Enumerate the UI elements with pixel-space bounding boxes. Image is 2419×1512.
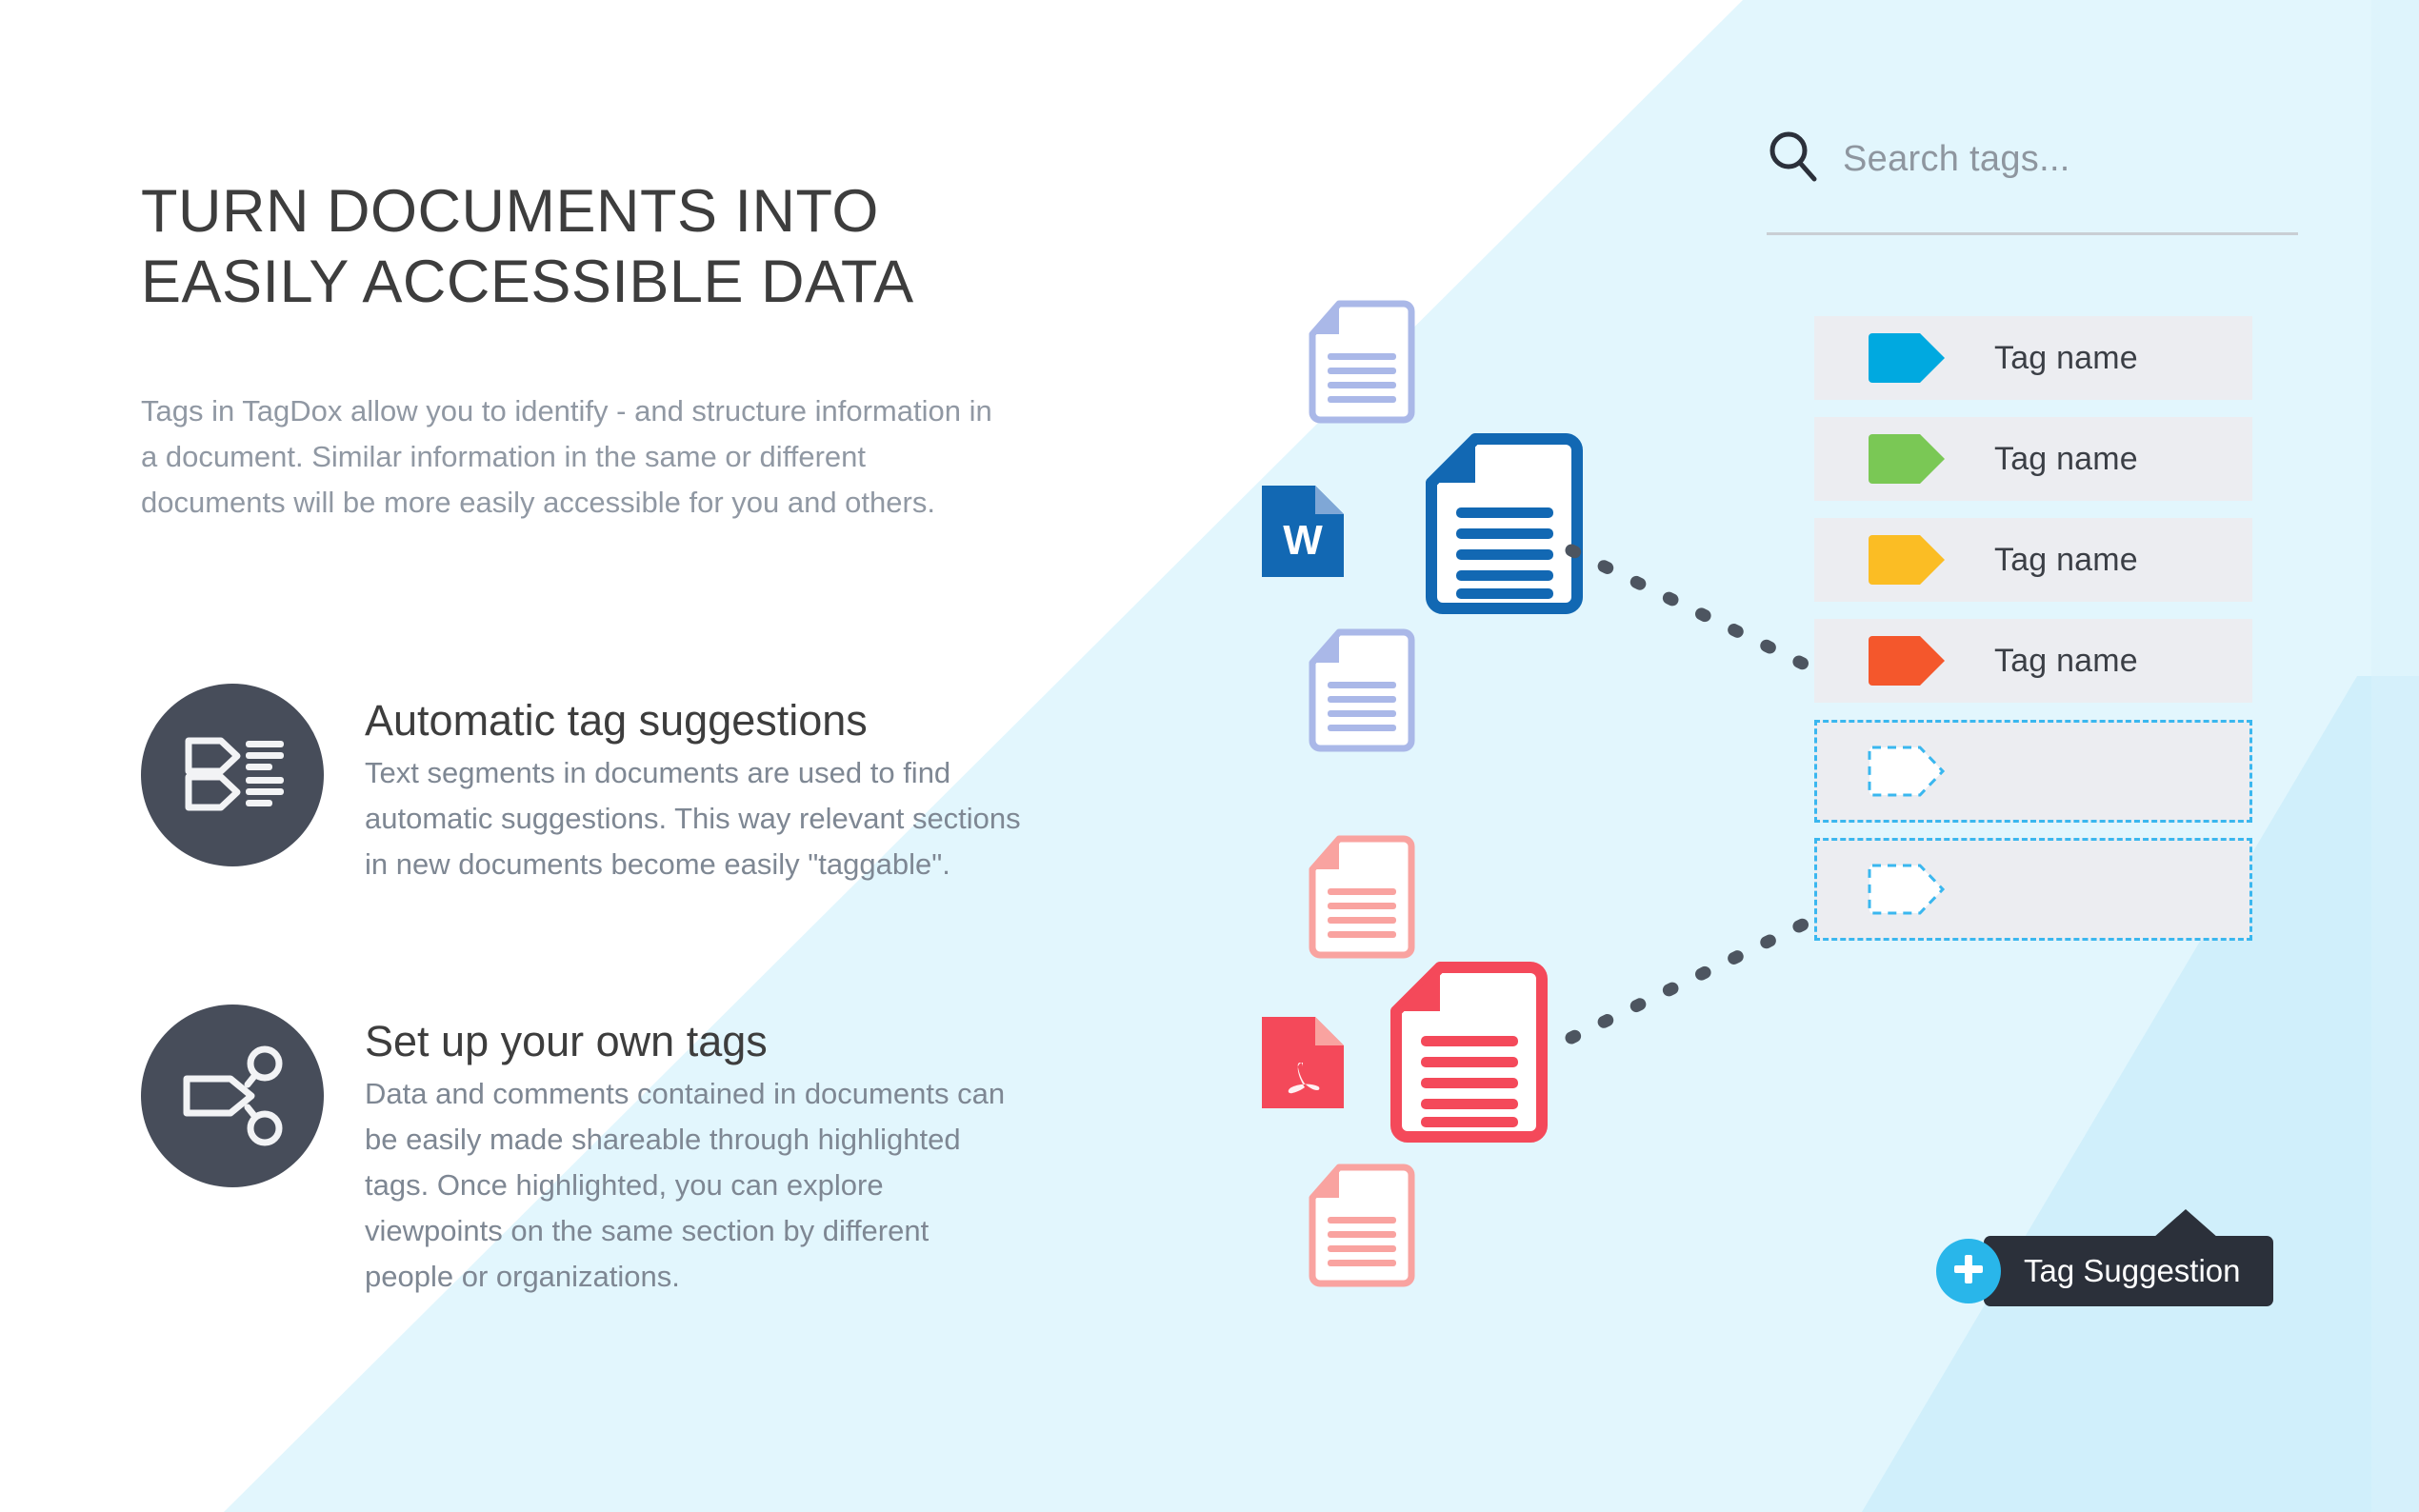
tag-placeholder-icon — [1867, 745, 1947, 798]
intro-paragraph: Tags in TagDox allow you to identify - a… — [141, 388, 1179, 526]
search-input[interactable]: Search tags... — [1843, 139, 2070, 180]
feature-description: Data and comments contained in documents… — [365, 1071, 1005, 1300]
svg-text:W: W — [1283, 517, 1323, 564]
headline-line-2: EASILY ACCESSIBLE DATA — [141, 247, 1189, 317]
document-icon-red-large — [1390, 962, 1548, 1143]
tag-suggestion-placeholder[interactable] — [1814, 720, 2252, 823]
tooltip-arrow-icon — [2153, 1209, 2218, 1238]
feature-text-line-3: tags. Once highlighted, you can explore — [365, 1163, 1005, 1208]
tooltip-label: Tag Suggestion — [2024, 1253, 2241, 1288]
feature-title: Automatic tag suggestions — [365, 697, 1021, 745]
document-icon-red-small-1 — [1305, 835, 1419, 959]
plus-icon — [1949, 1250, 1988, 1293]
tag-row[interactable]: Tag name — [1814, 316, 2252, 400]
tag-label: Tag name — [1994, 340, 2138, 377]
feature-body: Automatic tag suggestions Text segments … — [365, 684, 1021, 887]
document-icon-blue-small-2 — [1305, 628, 1419, 752]
tag-row[interactable]: Tag name — [1814, 417, 2252, 501]
tag-placeholder-icon — [1867, 863, 1947, 916]
tag-row[interactable]: Tag name — [1814, 518, 2252, 602]
tag-suggestion-tooltip[interactable]: Tag Suggestion — [1936, 1236, 2273, 1306]
tag-list-icon — [141, 684, 324, 866]
feature-text-line-1: Data and comments contained in documents… — [365, 1071, 1005, 1117]
tag-swatch-icon — [1867, 432, 1947, 486]
feature-body: Set up your own tags Data and comments c… — [365, 1005, 1005, 1300]
feature-automatic-tag-suggestions: Automatic tag suggestions Text segments … — [141, 684, 1021, 887]
search-icon — [1765, 129, 1822, 190]
document-icon-blue-small-1 — [1305, 300, 1419, 424]
search-underline — [1767, 232, 2298, 235]
page-title: TURN DOCUMENTS INTO EASILY ACCESSIBLE DA… — [141, 176, 1189, 318]
tag-label: Tag name — [1994, 542, 2138, 579]
feature-text-line-3: in new documents become easily "taggable… — [365, 842, 1021, 887]
feature-text-line-2: automatic suggestions. This way relevant… — [365, 796, 1021, 842]
tag-label: Tag name — [1994, 441, 2138, 478]
tag-label: Tag name — [1994, 643, 2138, 680]
document-icon-blue-large — [1426, 433, 1583, 614]
feature-set-up-your-own-tags: Set up your own tags Data and comments c… — [141, 1005, 1005, 1300]
tag-swatch-icon — [1867, 331, 1947, 385]
feature-text-line-1: Text segments in documents are used to f… — [365, 750, 1021, 796]
feature-text-line-4: viewpoints on the same section by differ… — [365, 1208, 1005, 1254]
infographic-stage: TURN DOCUMENTS INTO EASILY ACCESSIBLE DA… — [0, 0, 2419, 1512]
intro-line-3: documents will be more easily accessible… — [141, 480, 1179, 526]
feature-description: Text segments in documents are used to f… — [365, 750, 1021, 887]
tag-swatch-icon — [1867, 533, 1947, 587]
intro-line-1: Tags in TagDox allow you to identify - a… — [141, 388, 1179, 434]
document-icon-red-small-2 — [1305, 1164, 1419, 1287]
hero-text-column: TURN DOCUMENTS INTO EASILY ACCESSIBLE DA… — [141, 176, 1189, 555]
add-tag-button[interactable] — [1936, 1239, 2001, 1303]
intro-line-2: a document. Similar information in the s… — [141, 434, 1179, 480]
search-bar[interactable]: Search tags... — [1765, 129, 2298, 190]
tag-network-icon — [141, 1005, 324, 1187]
feature-title: Set up your own tags — [365, 1018, 1005, 1065]
feature-text-line-2: be easily made shareable through highlig… — [365, 1117, 1005, 1163]
word-file-icon: W — [1262, 486, 1344, 577]
tag-suggestion-placeholder[interactable] — [1814, 838, 2252, 941]
feature-text-line-5: people or organizations. — [365, 1254, 1005, 1300]
tag-list: Tag name Tag name Tag name Tag name — [1814, 316, 2252, 956]
tooltip-bubble: Tag Suggestion — [1984, 1236, 2273, 1306]
tag-row[interactable]: Tag name — [1814, 619, 2252, 703]
tag-swatch-icon — [1867, 634, 1947, 687]
pdf-file-icon — [1262, 1017, 1344, 1108]
headline-line-1: TURN DOCUMENTS INTO — [141, 176, 1189, 247]
